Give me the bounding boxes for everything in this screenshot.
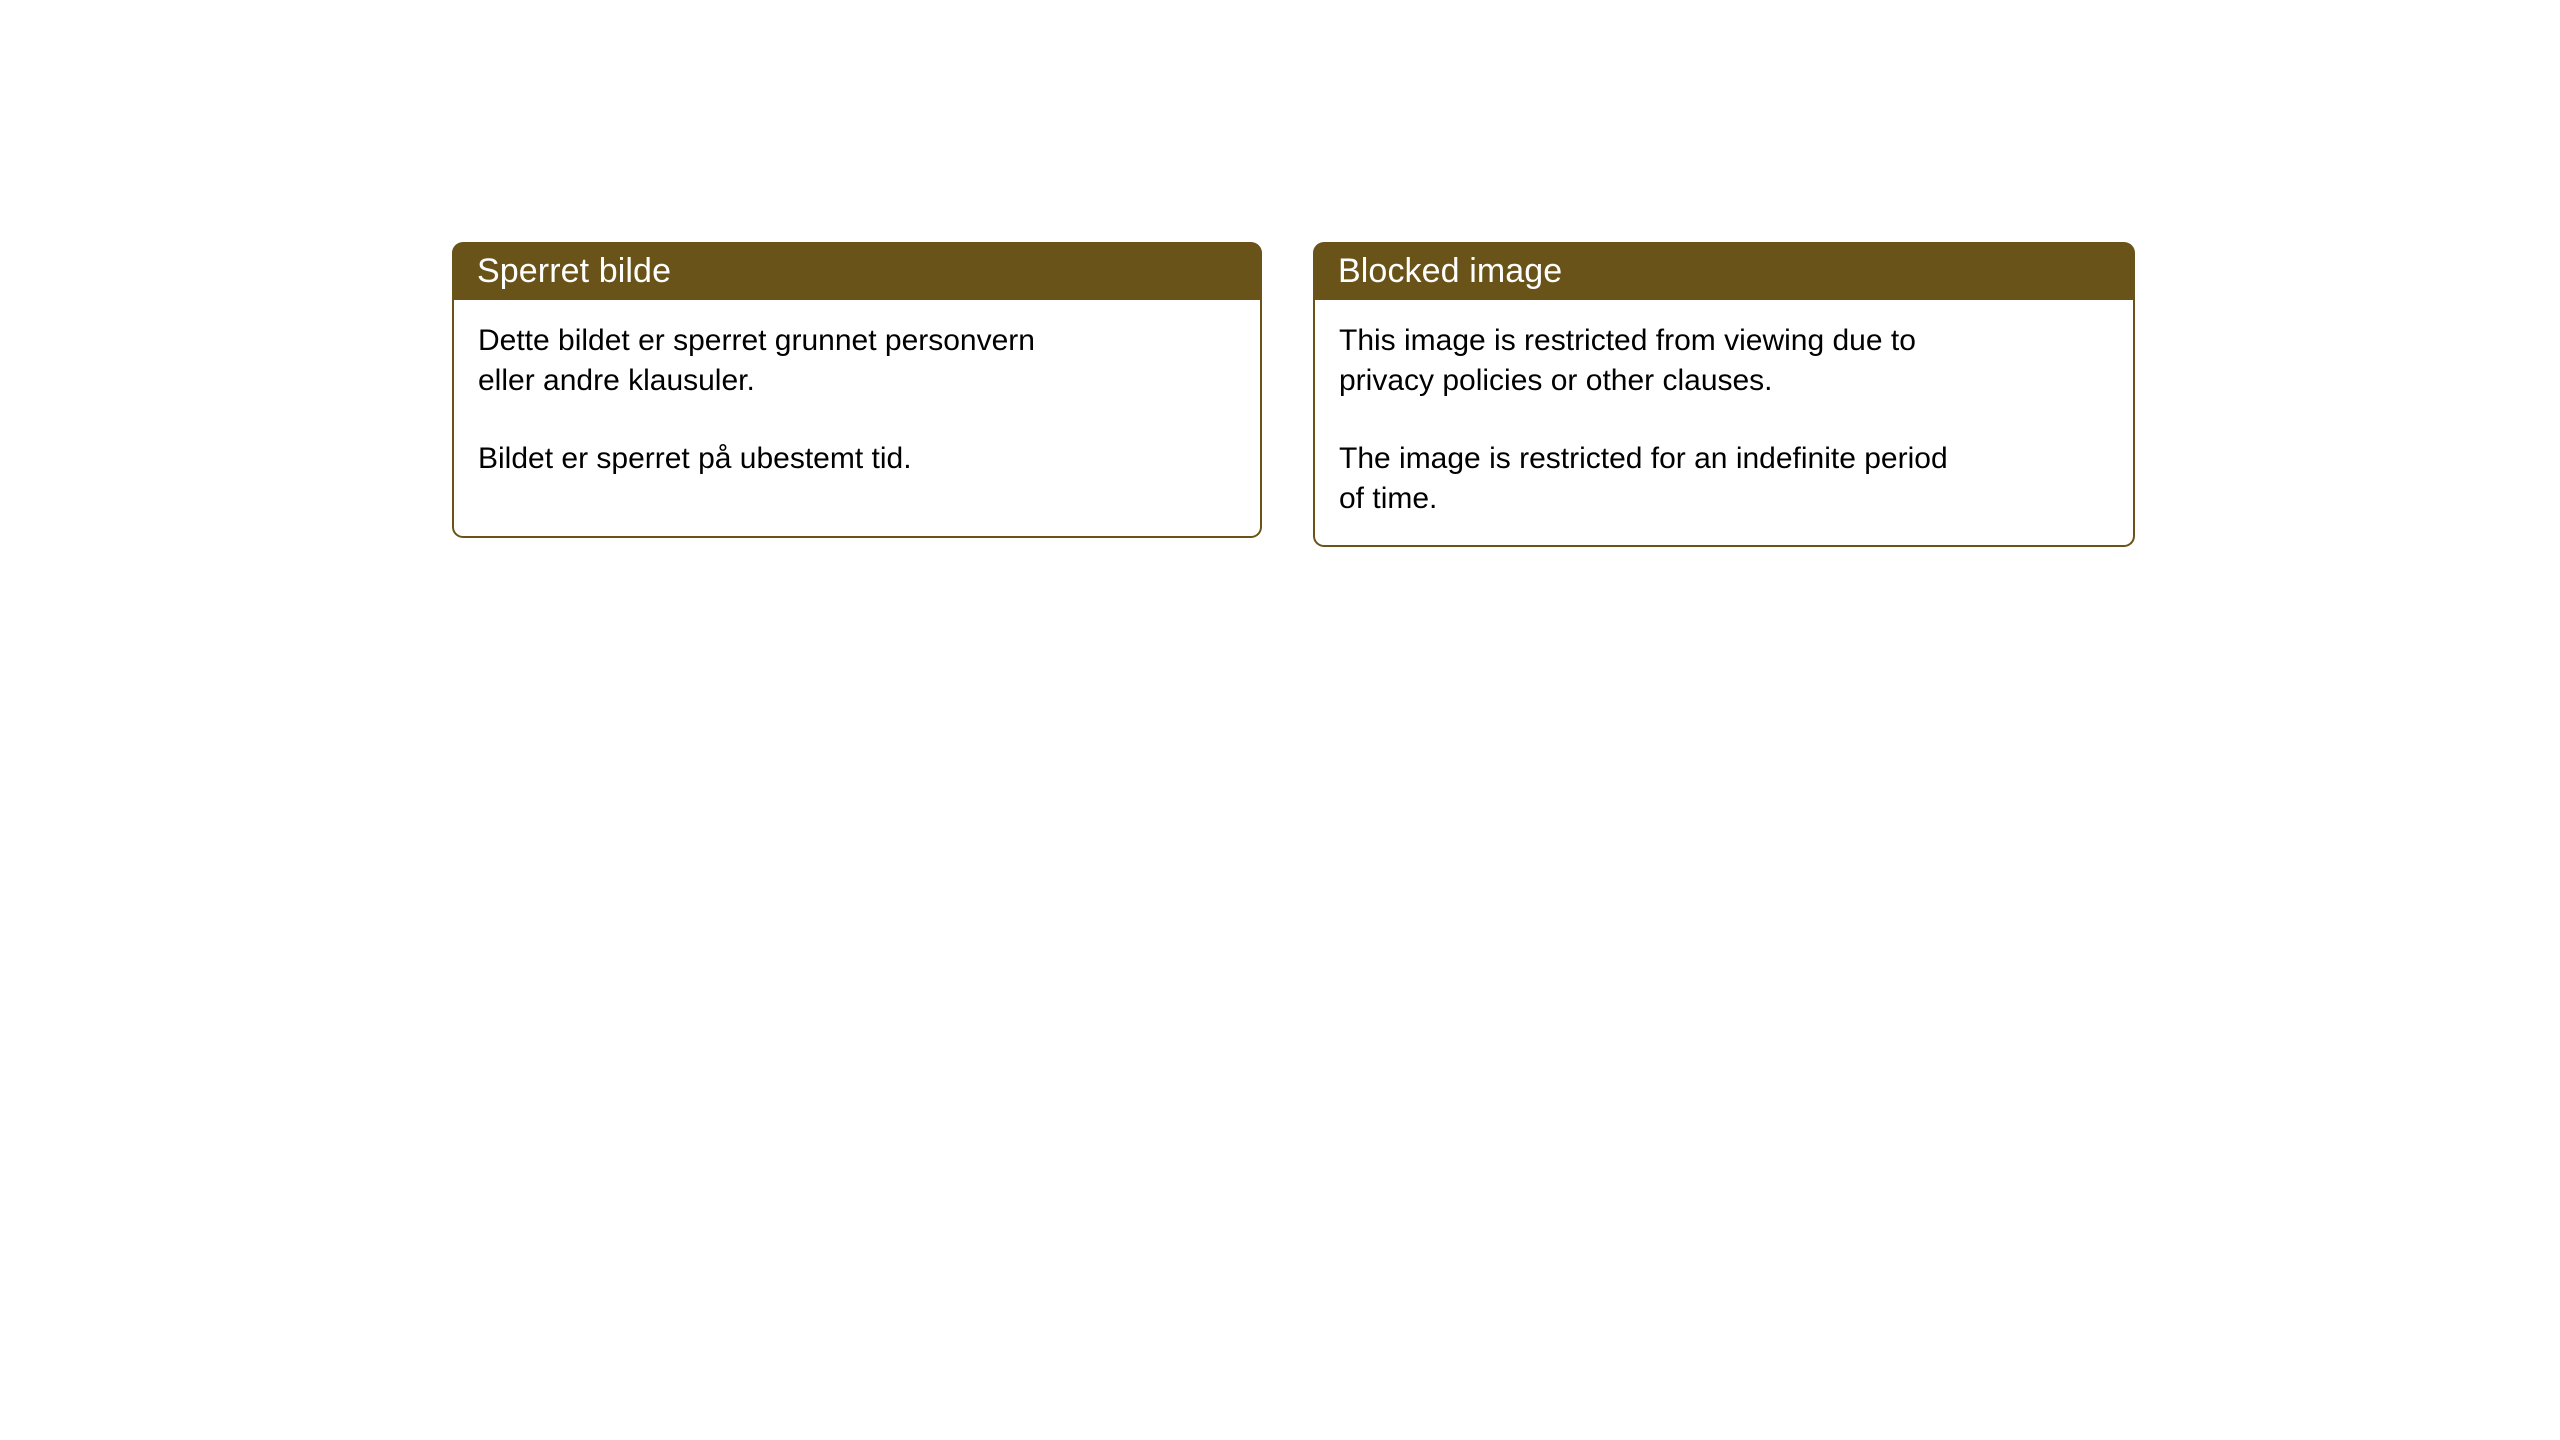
card-body-norwegian: Dette bildet er sperret grunnet personve… bbox=[452, 300, 1262, 538]
card-paragraph-privacy-norwegian: Dette bildet er sperret grunnet personve… bbox=[478, 321, 1236, 401]
card-paragraph-privacy-english: This image is restricted from viewing du… bbox=[1339, 321, 2109, 401]
blocked-image-notice-group: Sperret bilde Dette bildet er sperret gr… bbox=[452, 242, 2135, 547]
blocked-image-card-norwegian: Sperret bilde Dette bildet er sperret gr… bbox=[452, 242, 1262, 538]
card-paragraph-duration-english: The image is restricted for an indefinit… bbox=[1339, 439, 2109, 519]
blocked-image-card-english: Blocked image This image is restricted f… bbox=[1313, 242, 2135, 547]
card-header-english: Blocked image bbox=[1313, 242, 2135, 300]
card-title-norwegian: Sperret bilde bbox=[477, 254, 671, 288]
card-title-english: Blocked image bbox=[1338, 254, 1562, 288]
card-body-english: This image is restricted from viewing du… bbox=[1313, 300, 2135, 547]
card-paragraph-duration-norwegian: Bildet er sperret på ubestemt tid. bbox=[478, 439, 1236, 479]
card-header-norwegian: Sperret bilde bbox=[452, 242, 1262, 300]
